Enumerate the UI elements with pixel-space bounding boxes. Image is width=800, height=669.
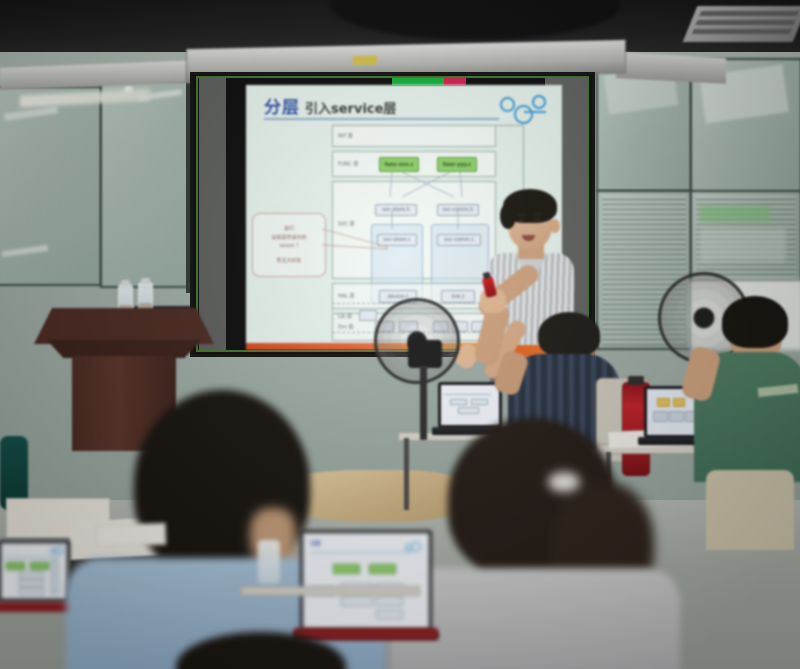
table-foreground: [240, 586, 420, 596]
slide-title: 分层引入service层: [264, 93, 396, 118]
ceiling-vent: [683, 6, 800, 42]
student-far-right: [712, 280, 772, 320]
slide-callout-bubble: 亲们 这就是传说中的 xxxxx ? 有五大好处: [252, 213, 326, 277]
student-green-tee: [700, 296, 800, 496]
blinds-reflection-2: [700, 228, 786, 262]
hair-scrunchie: [548, 472, 580, 492]
laptop-mini-title: 分层: [311, 540, 321, 547]
laptop-center-hinge: [294, 628, 438, 640]
layer-label-lib: Lib 层: [338, 313, 352, 320]
callout-leader-lines: [322, 225, 392, 259]
callout-line-2: 这就是传说中的: [271, 234, 306, 243]
presenter-eyebrow-left: [517, 214, 526, 216]
papers-left: [96, 523, 167, 547]
classroom-photo: 分层引入service层 INT 层 FUNC 层 func-xxx.c fun…: [0, 0, 800, 669]
slide-title-rule: [264, 118, 499, 120]
ponytail-body: [390, 568, 680, 669]
student-navy-hair: [538, 312, 600, 358]
screen-mark-red: [444, 78, 466, 85]
presenter-eye-left: [518, 219, 525, 222]
laptop-left-foreground: [0, 540, 70, 602]
glass-logo-etch: [634, 130, 672, 160]
ceiling-fixture: [330, 0, 620, 40]
presenter-eye-right: [534, 218, 541, 221]
slide-title-sub: 引入service层: [305, 102, 396, 117]
fan-motor-left: [408, 340, 442, 368]
callout-line-4: 有五大好处: [276, 257, 301, 266]
presenter-ear: [550, 219, 560, 233]
presenter-eyebrow-right: [533, 213, 542, 215]
student-green-legs: [706, 470, 794, 550]
glass-panel-left: [0, 86, 102, 286]
glass-panel-left2: [100, 80, 196, 288]
screen-mark-green: [392, 78, 444, 85]
valance-label: [353, 56, 377, 66]
water-bottle-table: [258, 540, 280, 584]
layer-label-hal: HAL 层: [338, 293, 355, 300]
slide-decoration-icon: [500, 95, 552, 125]
blinds-slide-reflection: [700, 206, 770, 222]
student-ponytail: [400, 418, 670, 669]
slide-title-main: 分层: [264, 98, 300, 118]
callout-line-3: xxxxx ?: [279, 242, 298, 251]
laptop-center-foreground: 分层: [300, 530, 432, 632]
podium-top: [34, 308, 214, 344]
callout-line-1: 亲们: [284, 225, 294, 234]
presenter-hair-side: [500, 203, 516, 229]
